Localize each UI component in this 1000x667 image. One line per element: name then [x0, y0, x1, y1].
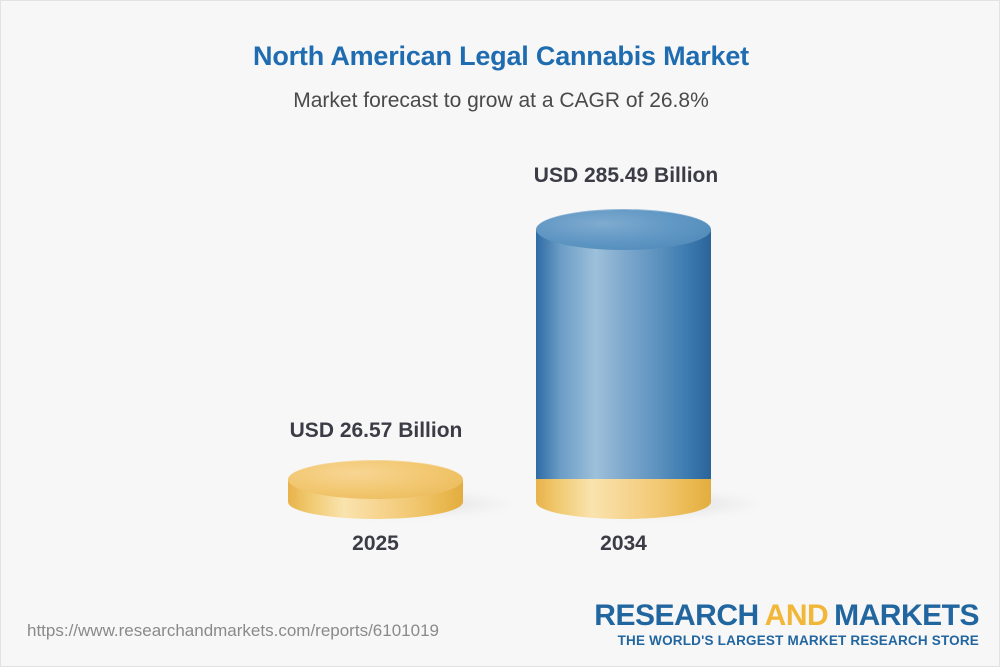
bar-2025[interactable]	[288, 460, 463, 512]
logo-word-markets: MARKETS	[834, 599, 979, 632]
bar-2025-top-ellipse	[288, 460, 463, 499]
researchandmarkets-logo: RESEARCHANDMARKETS THE WORLD'S LARGEST M…	[594, 600, 979, 649]
source-url[interactable]: https://www.researchandmarkets.com/repor…	[27, 621, 439, 641]
footer: https://www.researchandmarkets.com/repor…	[1, 586, 1000, 666]
logo-tagline: THE WORLD'S LARGEST MARKET RESEARCH STOR…	[594, 633, 979, 648]
category-label-2025: 2025	[288, 532, 463, 556]
bar-2034[interactable]	[536, 209, 711, 509]
logo-wordmark: RESEARCHANDMARKETS	[594, 600, 979, 632]
chart-canvas: North American Legal Cannabis Market Mar…	[0, 0, 1000, 667]
plot-area: USD 285.49 Billion 2034 USD 26.57 Billio…	[1, 1, 1000, 581]
value-label-2034: USD 285.49 Billion	[506, 164, 746, 188]
bar-2034-bottom-ellipse	[536, 485, 711, 519]
bar-2034-blue-segment	[536, 229, 711, 479]
logo-word-and: AND	[759, 599, 835, 632]
value-label-2025: USD 26.57 Billion	[256, 419, 496, 443]
logo-word-research: RESEARCH	[594, 599, 758, 632]
bar-2034-top-ellipse	[536, 209, 711, 250]
category-label-2034: 2034	[536, 532, 711, 556]
